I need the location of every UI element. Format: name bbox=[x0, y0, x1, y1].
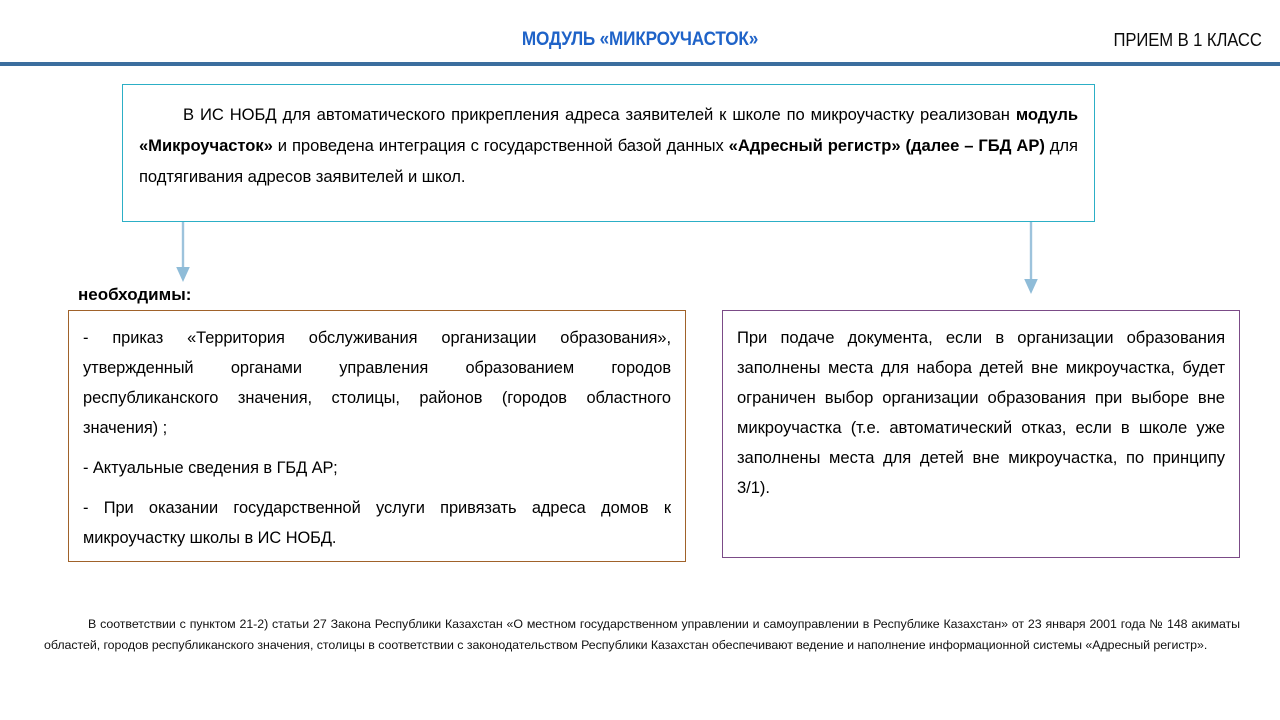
requirement-item-2: - Актуальные сведения в ГБД АР; bbox=[83, 453, 671, 483]
intro-bold-registry: «Адресный регистр» (далее – ГБД АР) bbox=[729, 136, 1045, 155]
slide-header: МОДУЛЬ «МИКРОУЧАСТОК» ПРИЕМ В 1 КЛАСС bbox=[0, 0, 1280, 62]
requirements-label: необходимы: bbox=[78, 286, 191, 303]
legal-footnote: В соответствии с пунктом 21-2) статьи 27… bbox=[44, 614, 1240, 656]
requirement-item-3: - При оказании государственной услуги пр… bbox=[83, 493, 671, 553]
restriction-paragraph: При подаче документа, если в организации… bbox=[737, 323, 1225, 503]
requirement-item-1: - приказ «Территория обслуживания органи… bbox=[83, 323, 671, 443]
intro-text-box: В ИС НОБД для автоматического прикреплен… bbox=[122, 84, 1095, 222]
requirements-box: - приказ «Территория обслуживания органи… bbox=[68, 310, 686, 562]
intro-text-part-2: и проведена интеграция с государственной… bbox=[273, 136, 729, 155]
restriction-box: При подаче документа, если в организации… bbox=[722, 310, 1240, 558]
intro-text-part-1: В ИС НОБД для автоматического прикреплен… bbox=[183, 105, 1016, 124]
slide-root: МОДУЛЬ «МИКРОУЧАСТОК» ПРИЕМ В 1 КЛАСС В … bbox=[0, 0, 1280, 720]
intro-paragraph: В ИС НОБД для автоматического прикреплен… bbox=[139, 99, 1078, 192]
arrow-down-to-left-box bbox=[168, 222, 198, 284]
header-divider bbox=[0, 62, 1280, 66]
page-title: МОДУЛЬ «МИКРОУЧАСТОК» bbox=[77, 30, 1203, 50]
arrow-down-to-right-box bbox=[1016, 222, 1046, 296]
header-section-label: ПРИЕМ В 1 КЛАСС bbox=[1114, 31, 1262, 50]
